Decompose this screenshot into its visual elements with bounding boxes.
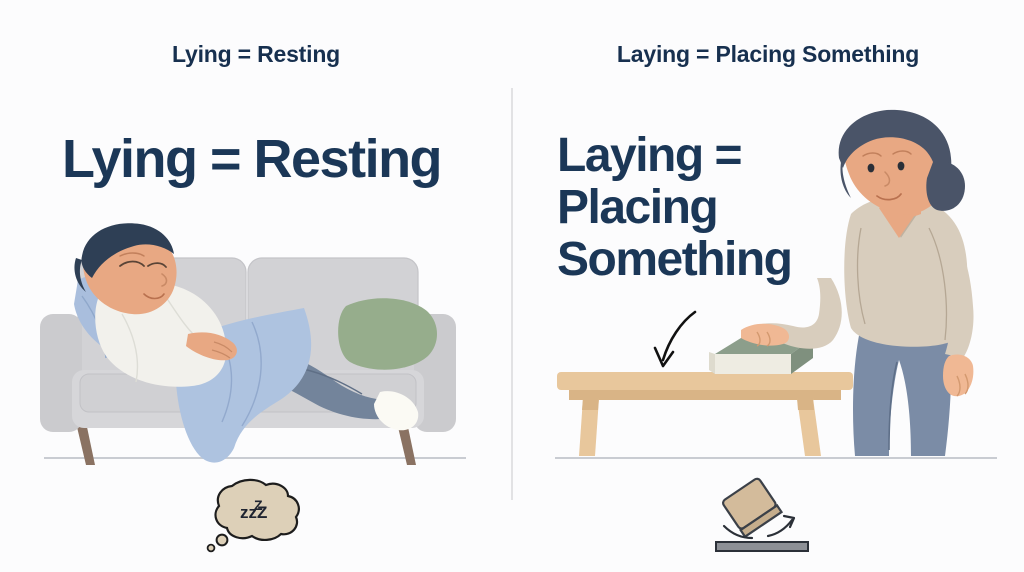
coffee-table [557,372,853,456]
sleep-thought-bubble-icon: zzZ Z [196,478,308,554]
illustration-woman-placing-book [545,110,1005,462]
hair-bun [926,161,965,211]
panel-caption-laying: Laying = Placing Something [512,41,1024,68]
couch-legs [77,427,416,465]
woman-head [839,110,965,218]
placement-arrow-icon [655,312,695,366]
panel-lying: Lying = Resting Lying = Resting [0,0,512,572]
infographic-root: Lying = Resting Lying = Resting [0,0,1024,572]
panel-divider [511,88,513,500]
illustration-man-resting-on-couch [36,222,482,468]
green-pillow [338,298,437,369]
svg-text:Z: Z [254,497,263,513]
woman-arm-reaching [741,278,842,349]
panel-caption-lying: Lying = Resting [0,41,512,68]
placing-object-icon [702,476,824,554]
headline-lying: Lying = Resting [62,132,441,186]
